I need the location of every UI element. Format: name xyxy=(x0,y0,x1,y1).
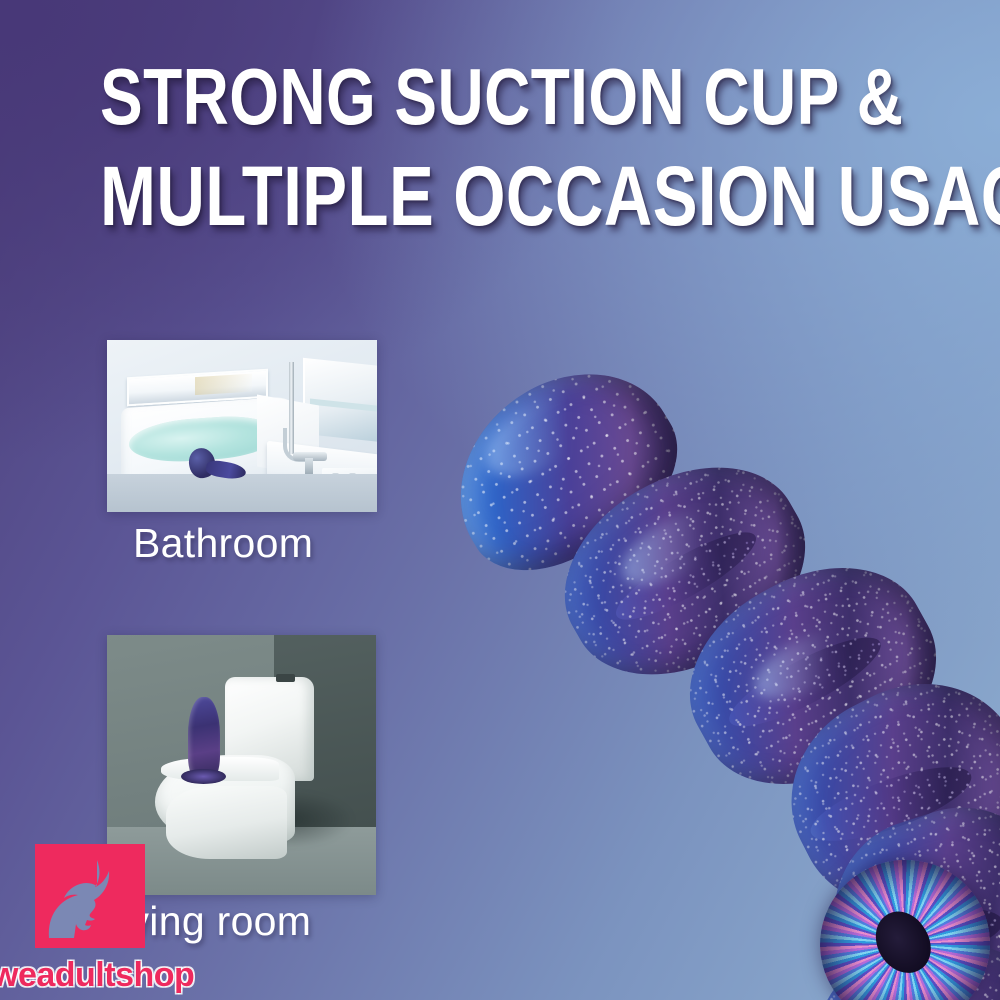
product-segment-4 xyxy=(757,648,1000,942)
page-title: STRONG SUCTION CUP & MULTIPLE OCCASION U… xyxy=(0,58,1000,237)
product-ridge-3 xyxy=(803,752,979,855)
product-on-toilet xyxy=(188,697,220,780)
toilet-flush-button xyxy=(276,674,295,682)
product-in-bathroom xyxy=(189,448,245,482)
product-ridge-1 xyxy=(607,519,766,634)
product-segment-6 xyxy=(806,933,1000,1000)
woman-profile-silhouette-icon xyxy=(35,844,145,948)
toilet-base xyxy=(166,786,287,859)
product-segment-3 xyxy=(656,530,970,823)
product-segment-5 xyxy=(808,782,1000,1000)
brand-wordmark: weadultshop xyxy=(0,956,194,995)
promo-banner: STRONG SUCTION CUP & MULTIPLE OCCASION U… xyxy=(0,0,1000,1000)
suction-cup-eye-detail xyxy=(802,842,1000,1000)
product-ridge-2 xyxy=(720,623,891,742)
product-ridge-4 xyxy=(821,897,1000,977)
brand-logo[interactable] xyxy=(35,844,145,948)
product-highlight-1 xyxy=(473,377,608,493)
scenario-image-bathroom xyxy=(107,340,377,512)
headline-line-1: STRONG SUCTION CUP & xyxy=(100,58,900,136)
caption-bathroom: Bathroom xyxy=(133,520,313,567)
product-hero-image xyxy=(420,360,1000,1000)
product-tip xyxy=(421,337,705,599)
product-highlight-3 xyxy=(745,617,866,713)
headline-line-2: MULTIPLE OCCASION USAGE xyxy=(100,156,900,237)
faucet-handle xyxy=(305,458,313,474)
product-highlight-2 xyxy=(611,494,742,601)
scenario-image-living-room xyxy=(107,635,376,895)
product-segment-2 xyxy=(530,428,840,714)
